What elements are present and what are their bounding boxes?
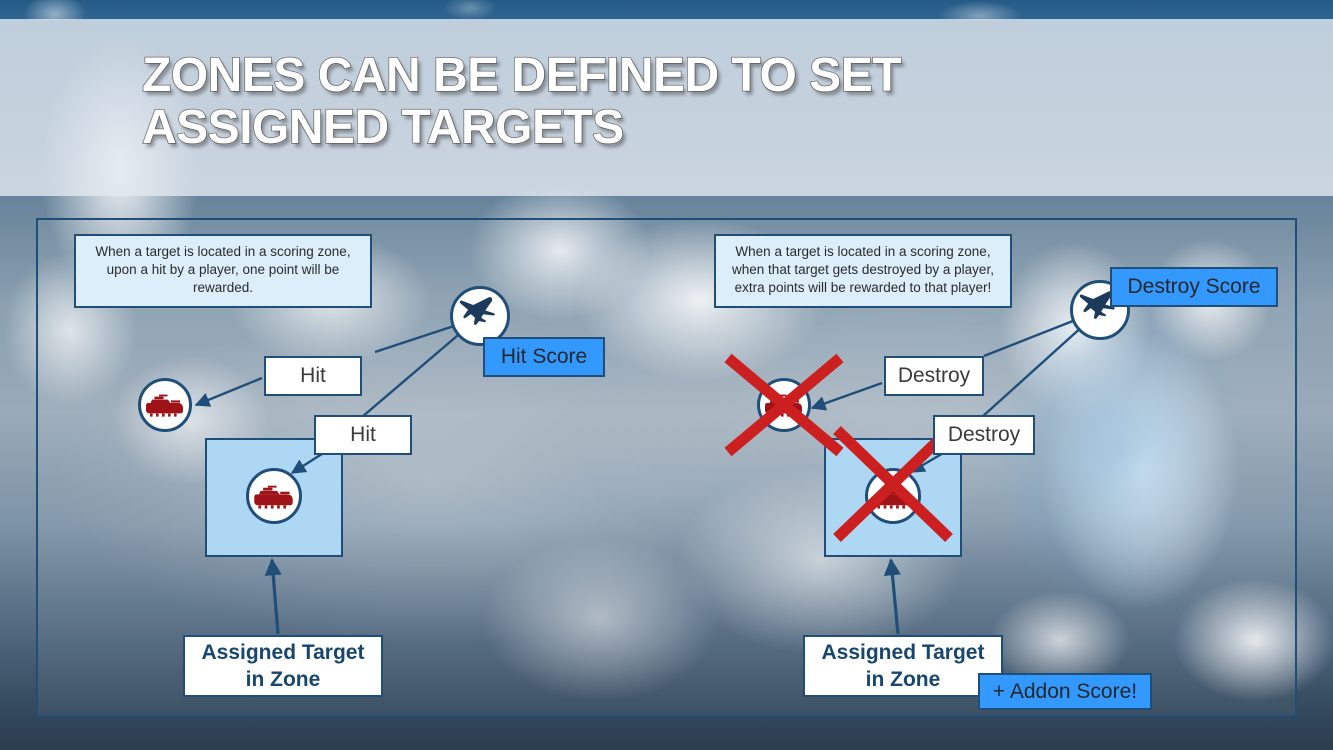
- right-destroy-score-box[interactable]: Destroy Score: [1110, 267, 1278, 307]
- left-assigned-target-label[interactable]: Assigned Target in Zone: [183, 635, 383, 697]
- right-info-box: When a target is located in a scoring zo…: [714, 234, 1012, 308]
- fighter-jet-icon: [457, 293, 503, 339]
- slide-canvas: Zones can be defined to set assigned tar…: [0, 0, 1333, 750]
- left-hit-label-lower[interactable]: Hit: [314, 415, 412, 455]
- right-destroy-label-upper[interactable]: Destroy: [884, 356, 984, 396]
- left-hit-label-upper[interactable]: Hit: [264, 356, 362, 396]
- right-zone-target[interactable]: [865, 468, 921, 524]
- right-free-target[interactable]: [757, 378, 811, 432]
- left-hit-score-box[interactable]: Hit Score: [483, 337, 605, 377]
- left-zone-target[interactable]: [246, 468, 302, 524]
- left-free-target[interactable]: [138, 378, 192, 432]
- armored-vehicle-icon: [253, 483, 295, 510]
- sky-top-strip: [0, 0, 1333, 20]
- right-destroy-label-lower[interactable]: Destroy: [933, 415, 1035, 455]
- armored-vehicle-icon: [764, 392, 804, 418]
- armored-vehicle-icon: [872, 483, 914, 510]
- right-assigned-target-label[interactable]: Assigned Target in Zone: [803, 635, 1003, 697]
- addon-score-box[interactable]: + Addon Score!: [978, 673, 1152, 710]
- armored-vehicle-icon: [145, 392, 185, 418]
- page-title: Zones can be defined to set assigned tar…: [142, 50, 1142, 154]
- left-info-box: When a target is located in a scoring zo…: [74, 234, 372, 308]
